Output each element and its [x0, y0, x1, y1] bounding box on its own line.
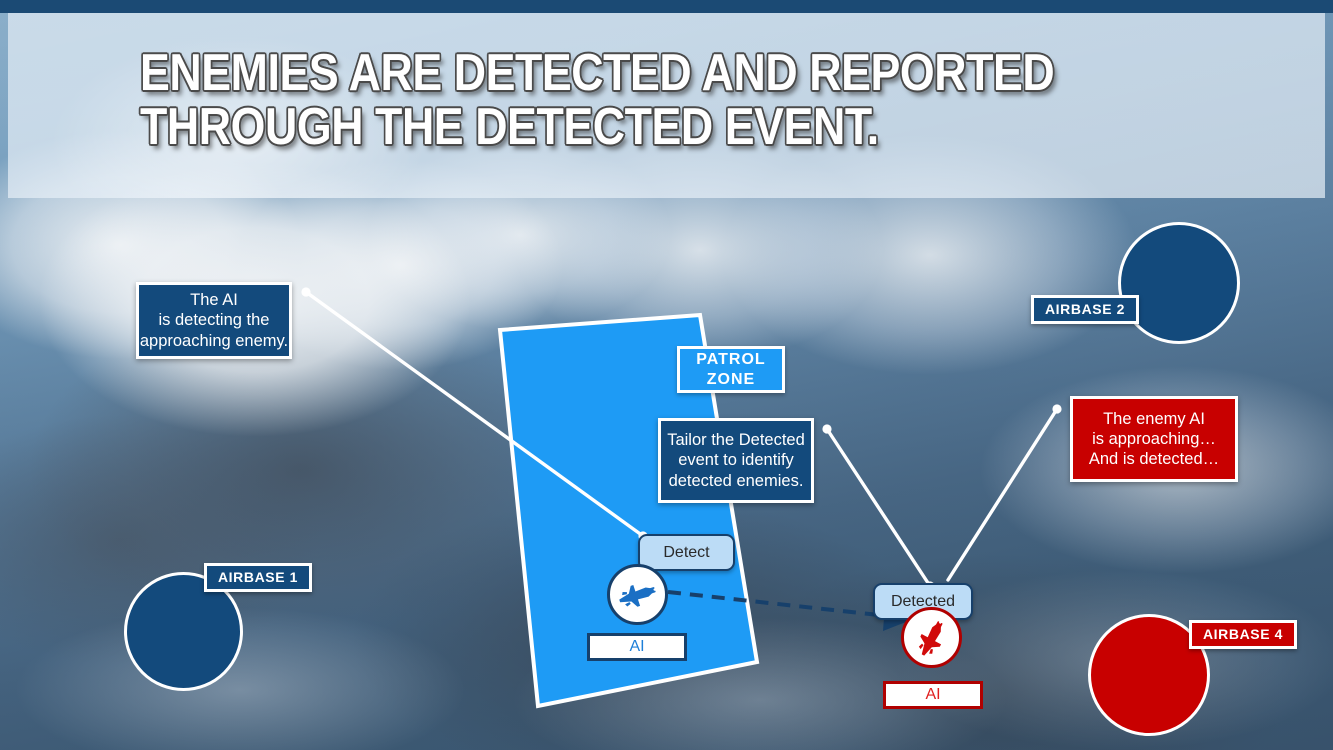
callout-enemy-ai[interactable]: The enemy AI is approaching… And is dete…: [1070, 396, 1238, 482]
enemy-jet-marker[interactable]: [901, 607, 962, 668]
airbase-2-label-text: AIRBASE 2: [1045, 301, 1125, 318]
patrol-zone-label-text: PATROL ZONE: [696, 350, 765, 389]
friendly-ai-label[interactable]: AI: [587, 633, 687, 661]
detect-event-badge[interactable]: Detect: [638, 534, 735, 571]
airbase-4-label-text: AIRBASE 4: [1203, 626, 1283, 643]
callout-friendly-ai[interactable]: The AI is detecting the approaching enem…: [136, 282, 292, 359]
airbase-4-label[interactable]: AIRBASE 4: [1189, 620, 1297, 649]
callout-tailor-event[interactable]: Tailor the Detected event to identify de…: [658, 418, 814, 503]
friendly-jet-marker[interactable]: [607, 564, 668, 625]
enemy-ai-label[interactable]: AI: [883, 681, 983, 709]
leader-line-enemy: [948, 404, 1062, 580]
enemy-ai-label-text: AI: [925, 685, 940, 705]
detect-event-label: Detect: [663, 543, 709, 563]
friendly-ai-label-text: AI: [629, 637, 644, 657]
fighter-jet-icon: [616, 573, 660, 617]
airbase-2-circle[interactable]: [1118, 222, 1240, 344]
patrol-zone-label[interactable]: PATROL ZONE: [677, 346, 785, 393]
leader-line-tailor: [822, 424, 934, 590]
airbase-2-label[interactable]: AIRBASE 2: [1031, 295, 1139, 324]
airbase-1-label[interactable]: AIRBASE 1: [204, 563, 312, 592]
callout-enemy-ai-text: The enemy AI is approaching… And is dete…: [1089, 409, 1219, 469]
fighter-jet-icon: [910, 616, 954, 660]
slide-canvas: ENEMIES ARE DETECTED AND REPORTED THROUG…: [0, 0, 1333, 750]
airbase-1-label-text: AIRBASE 1: [218, 569, 298, 586]
callout-friendly-ai-text: The AI is detecting the approaching enem…: [140, 290, 288, 350]
callout-tailor-event-text: Tailor the Detected event to identify de…: [667, 430, 805, 490]
